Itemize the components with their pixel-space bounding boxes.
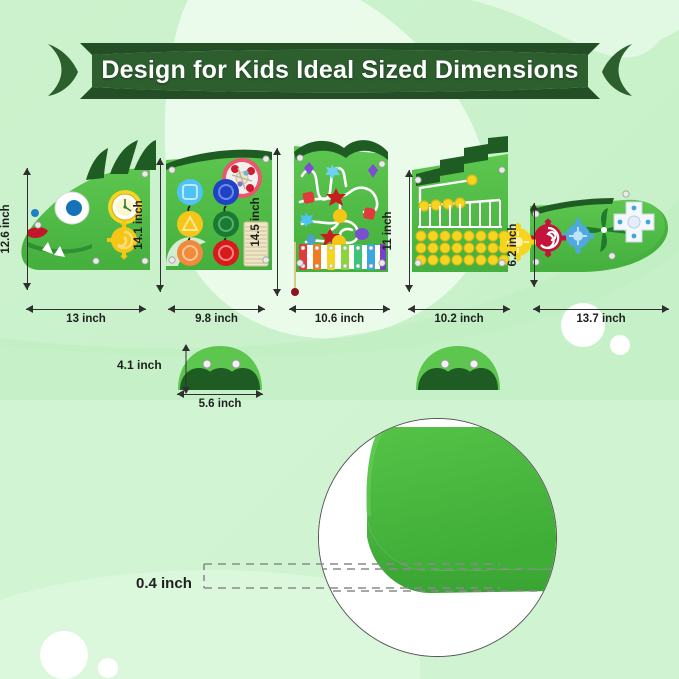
- magnified-board-edge: [319, 419, 556, 656]
- dimension-head-width: 13 inch: [26, 305, 146, 331]
- dimension-tail-height: 6.2 inch: [513, 203, 539, 287]
- dimension-head-height: 12.6 inch: [6, 168, 32, 290]
- dimension-label: 10.6 inch: [289, 313, 390, 325]
- dimension-panel2-width: 9.8 inch: [168, 305, 265, 331]
- foot-piece-right: [408, 342, 548, 402]
- xylophone: [298, 244, 386, 270]
- dimension-foot-height-line: [176, 344, 196, 394]
- dimension-foot-width: 5.6 inch: [177, 390, 263, 416]
- dimension-tail-width: 13.7 inch: [533, 305, 669, 331]
- abacus-panel: [412, 136, 509, 272]
- dimension-panel3-width: 10.6 inch: [289, 305, 390, 331]
- dimension-label: 11 inch: [382, 212, 394, 251]
- dimension-label: 10.2 inch: [408, 313, 510, 325]
- dimension-foot-height-label: 4.1 inch: [117, 358, 162, 372]
- dimension-panel2-height: 14.1 inch: [139, 158, 165, 292]
- banner-title: Design for Kids Ideal Sized Dimensions: [78, 41, 602, 99]
- thickness-label: 0.4 inch: [136, 575, 192, 592]
- dimension-label: 5.6 inch: [177, 398, 263, 410]
- dimension-panel4-height: 11 inch: [388, 170, 414, 292]
- dimension-label: 13 inch: [26, 313, 146, 325]
- infographic-canvas: Design for Kids Ideal Sized Dimensions: [0, 0, 679, 679]
- dimension-label: 9.8 inch: [168, 313, 265, 325]
- dimension-label: 13.7 inch: [533, 313, 669, 325]
- dimension-panel4-width: 10.2 inch: [408, 305, 510, 331]
- dimension-label: 14.1 inch: [133, 200, 145, 249]
- thickness-callout: [200, 560, 530, 600]
- wire-maze-panel: [291, 140, 388, 296]
- dimension-panel3-height: 14.5 inch: [256, 148, 282, 296]
- thickness-magnifier: [318, 418, 557, 657]
- toy-panels-illustration: [0, 130, 679, 440]
- dimension-label: 12.6 inch: [0, 204, 12, 253]
- dimension-label: 14.5 inch: [250, 197, 262, 246]
- dimension-label: 6.2 inch: [507, 224, 519, 267]
- banner: Design for Kids Ideal Sized Dimensions: [40, 41, 640, 99]
